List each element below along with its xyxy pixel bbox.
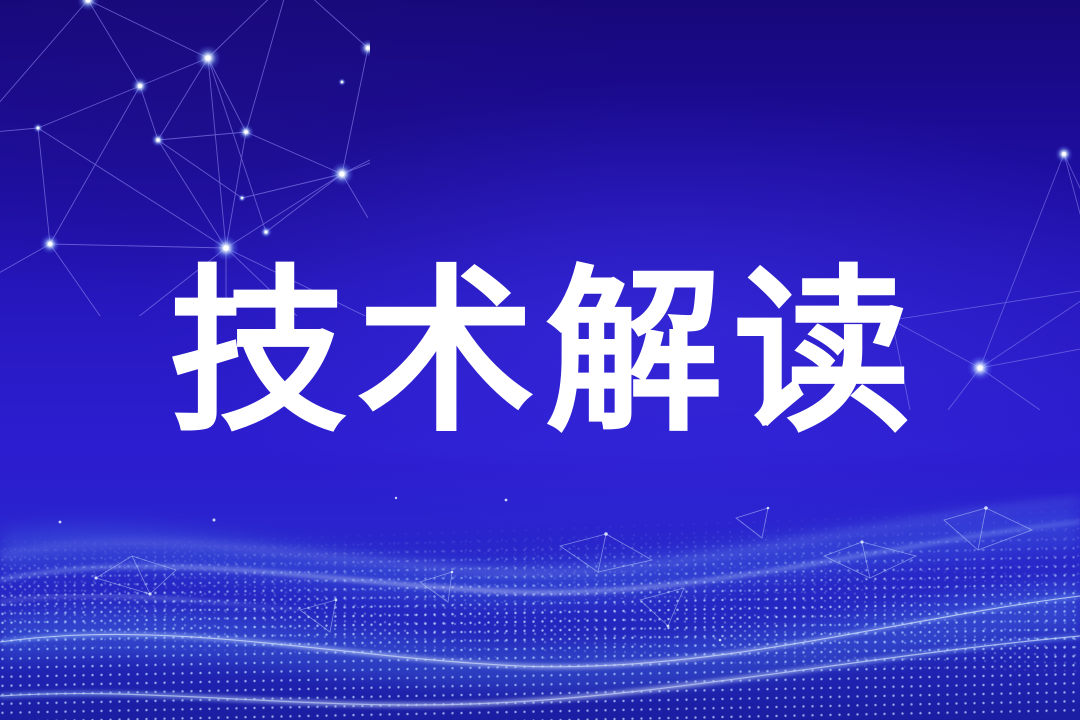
particle-mesh-front	[0, 525, 1080, 720]
particle-mesh-back	[0, 496, 1080, 621]
wave-polygon-fragments	[0, 460, 1080, 720]
page-title: 技术解读	[159, 264, 921, 442]
particle-mesh-mid	[0, 528, 1080, 675]
headline-container: 技术解读	[0, 258, 1080, 448]
particle-wave-graphic	[0, 460, 1080, 720]
wave-haze-overlay	[0, 470, 1080, 720]
wave-crest-lines	[0, 460, 1080, 720]
tech-interpretation-banner: 技术解读	[0, 0, 1080, 720]
